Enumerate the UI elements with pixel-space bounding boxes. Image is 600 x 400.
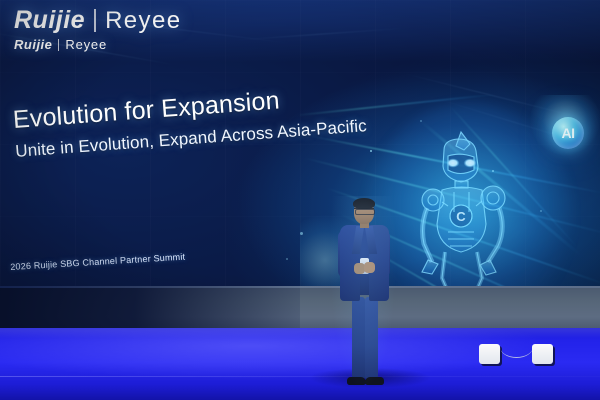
presenter-leg-left (352, 297, 365, 379)
stage-floor-sheen (0, 328, 600, 400)
presenter-hand-right (364, 262, 375, 273)
presenter-shoe-left (347, 377, 366, 385)
screen-vignette (0, 0, 600, 292)
stage-floor-seam (0, 376, 600, 377)
led-screen-backdrop: C AI Ruijie Reyee Ruijie Reyee Evolution… (0, 0, 600, 292)
stage-monitor-right (532, 344, 553, 364)
stage-monitor-left (479, 344, 500, 364)
presenter-leg-right (365, 297, 378, 379)
stage-screenshot: C AI Ruijie Reyee Ruijie Reyee Evolution… (0, 0, 600, 400)
presenter-shoe-right (365, 377, 384, 385)
stage-wall-shadow (0, 286, 300, 330)
presenter-figure (332, 200, 394, 396)
stage-wall-top-edge (0, 286, 600, 288)
presenter-glasses-icon (354, 208, 374, 214)
